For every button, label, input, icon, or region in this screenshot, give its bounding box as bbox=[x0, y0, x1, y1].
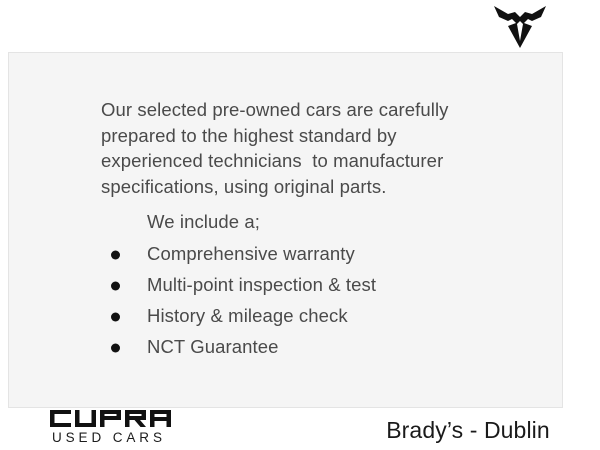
cupra-used-cars-wordmark: USED CARS bbox=[50, 410, 180, 446]
list-item: NCT Guarantee bbox=[105, 332, 525, 363]
info-panel: Our selected pre-owned cars are carefull… bbox=[8, 52, 563, 408]
list-item: Multi-point inspection & test bbox=[105, 270, 525, 301]
benefit-label: NCT Guarantee bbox=[147, 338, 279, 357]
benefit-label: Comprehensive warranty bbox=[147, 245, 355, 264]
cupra-wordmark-icon bbox=[50, 410, 174, 427]
intro-paragraph: Our selected pre-owned cars are carefull… bbox=[101, 97, 501, 199]
used-cars-label: USED CARS bbox=[50, 430, 180, 446]
bullet-dot-icon bbox=[111, 250, 120, 259]
bullet-dot-icon bbox=[111, 343, 120, 352]
bullet-dot-icon bbox=[111, 312, 120, 321]
benefits-list: Comprehensive warranty Multi-point inspe… bbox=[105, 239, 525, 363]
cupra-tribal-logo-icon bbox=[493, 4, 547, 49]
list-item: History & mileage check bbox=[105, 301, 525, 332]
bullet-dot-icon bbox=[111, 281, 120, 290]
benefit-label: History & mileage check bbox=[147, 307, 348, 326]
include-lead-text: We include a; bbox=[147, 209, 260, 234]
dealer-name: Brady’s - Dublin bbox=[373, 416, 563, 444]
benefit-label: Multi-point inspection & test bbox=[147, 276, 376, 295]
list-item: Comprehensive warranty bbox=[105, 239, 525, 270]
